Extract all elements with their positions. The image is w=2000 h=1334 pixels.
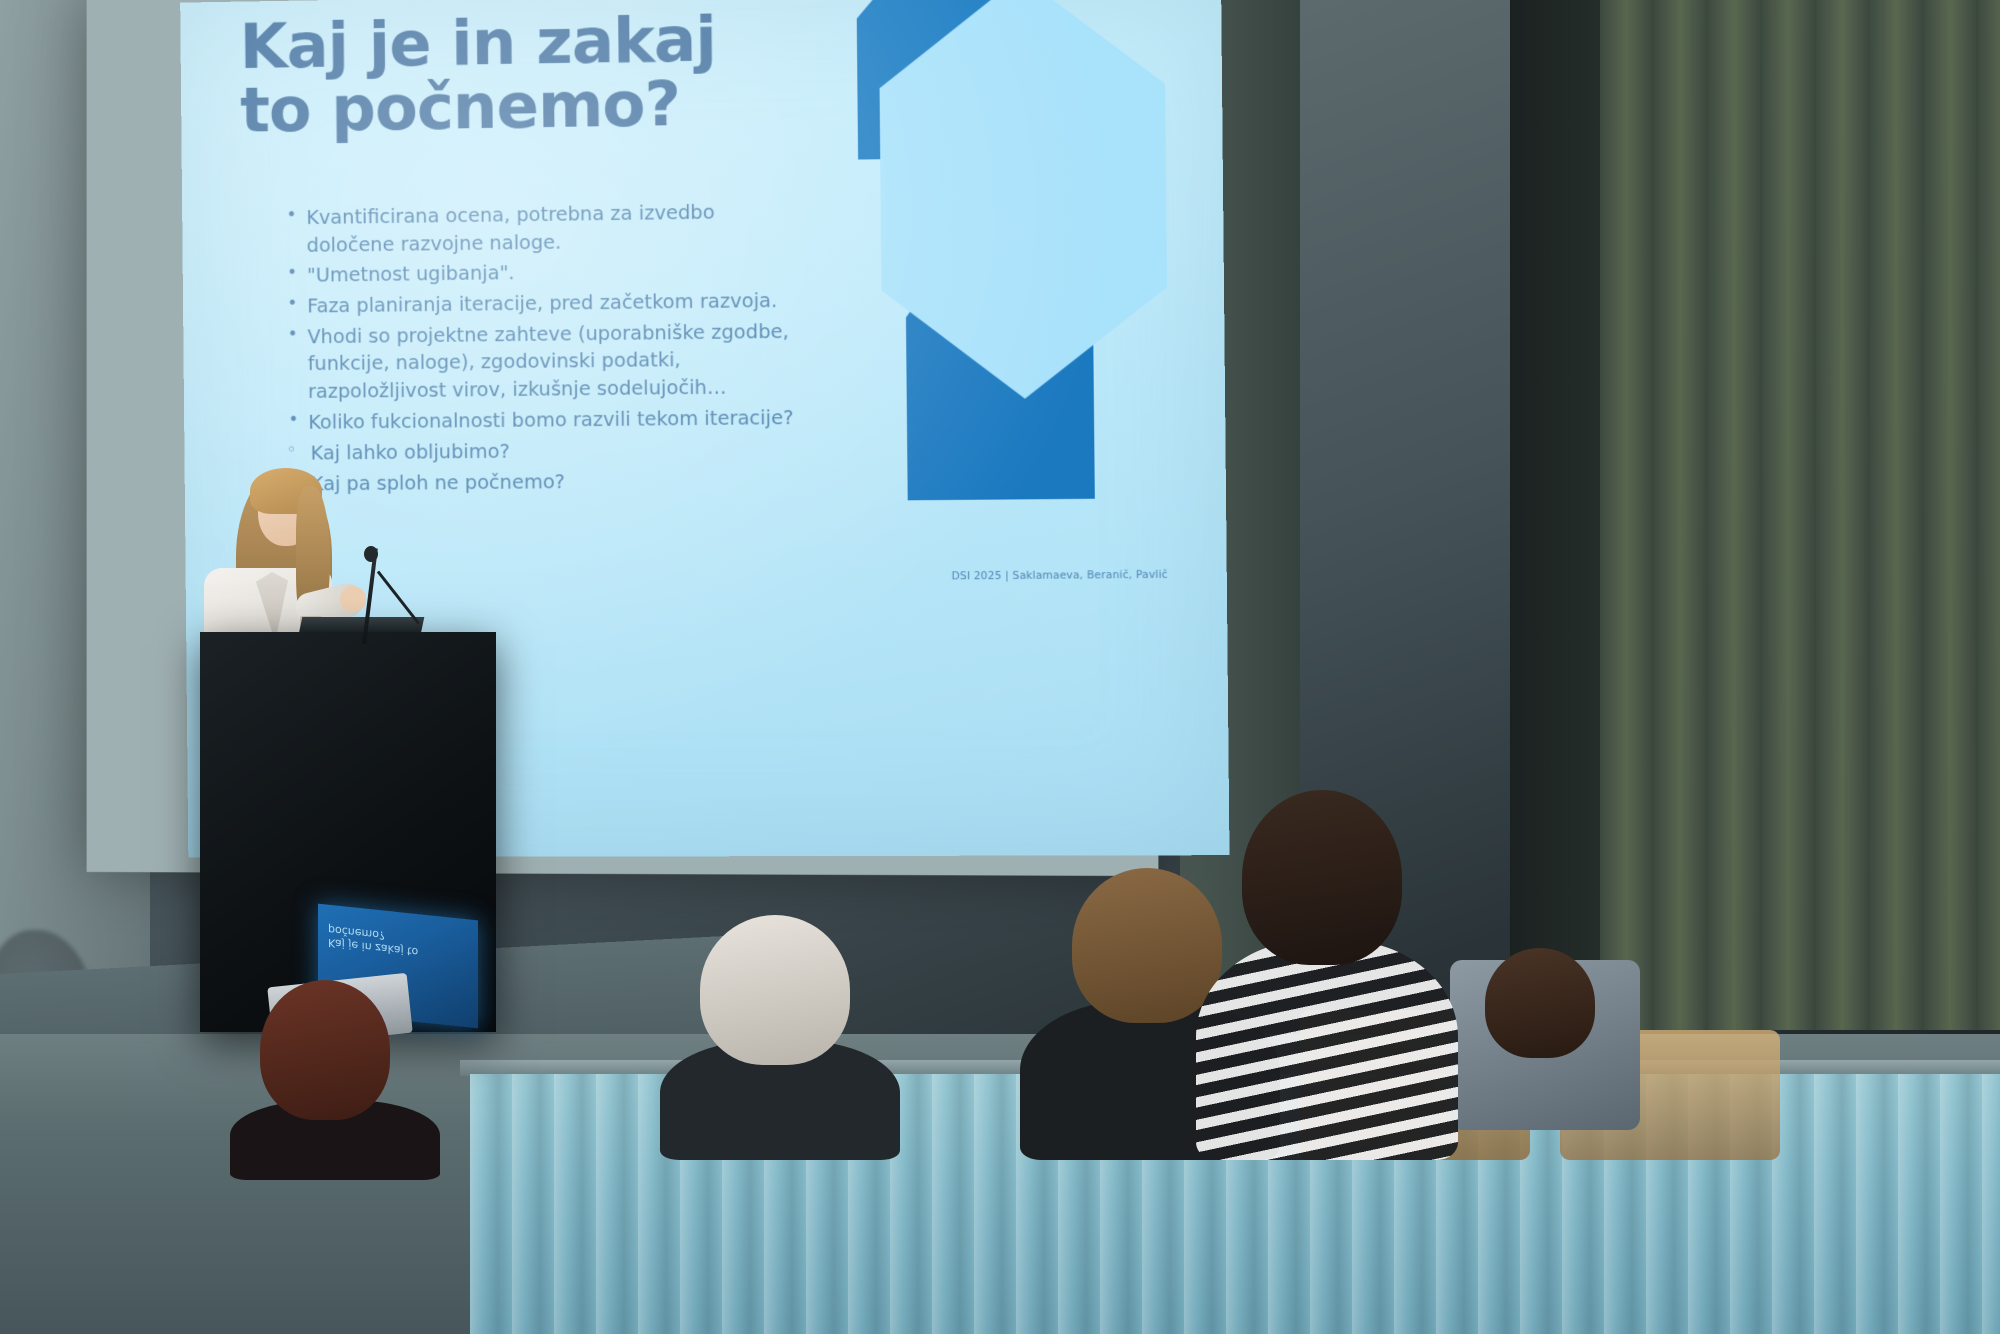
audience-member-head bbox=[1072, 868, 1222, 1023]
bullet-item: Vhodi so projektne zahteve (uporabniške … bbox=[286, 317, 804, 405]
stage-curtain bbox=[1600, 0, 2000, 1030]
sub-bullet-item: Kaj pa sploh ne počnemo? bbox=[287, 466, 805, 498]
slide-title: Kaj je in zakaj to počnemo? bbox=[239, 7, 737, 143]
confidence-monitor-text: Kaj je in zakaj to počnemo? bbox=[328, 923, 468, 963]
audience-member-head bbox=[1485, 948, 1595, 1058]
sub-bullet-item: Kaj lahko obljubimo? bbox=[287, 435, 805, 467]
bullet-item: Faza planiranja iteracije, pred začetkom… bbox=[285, 287, 803, 321]
slide-sub-bullet-list: Kaj lahko obljubimo? Kaj pa sploh ne poč… bbox=[287, 435, 805, 499]
audience-member-head bbox=[700, 915, 850, 1065]
hexagon-decoration bbox=[856, 0, 1185, 511]
audience-member-striped-top bbox=[1196, 940, 1458, 1160]
microphone-head bbox=[364, 546, 378, 562]
audience-member-head bbox=[1242, 790, 1402, 965]
bullet-item: Koliko fukcionalnosti bomo razvili tekom… bbox=[286, 404, 804, 437]
bullet-item: "Umetnost ugibanja". bbox=[285, 256, 803, 290]
audience-member-head bbox=[260, 980, 390, 1120]
slide-footer-attribution: DSI 2025 | Saklamaeva, Beranič, Pavlič bbox=[952, 569, 1168, 583]
conference-photo-scene: Kaj je in zakaj to počnemo? Kvantificira… bbox=[0, 0, 2000, 1334]
bullet-item: Kvantificirana ocena, potrebna za izvedb… bbox=[285, 197, 803, 259]
slide-bullet-list: Kvantificirana ocena, potrebna za izvedb… bbox=[285, 197, 806, 502]
